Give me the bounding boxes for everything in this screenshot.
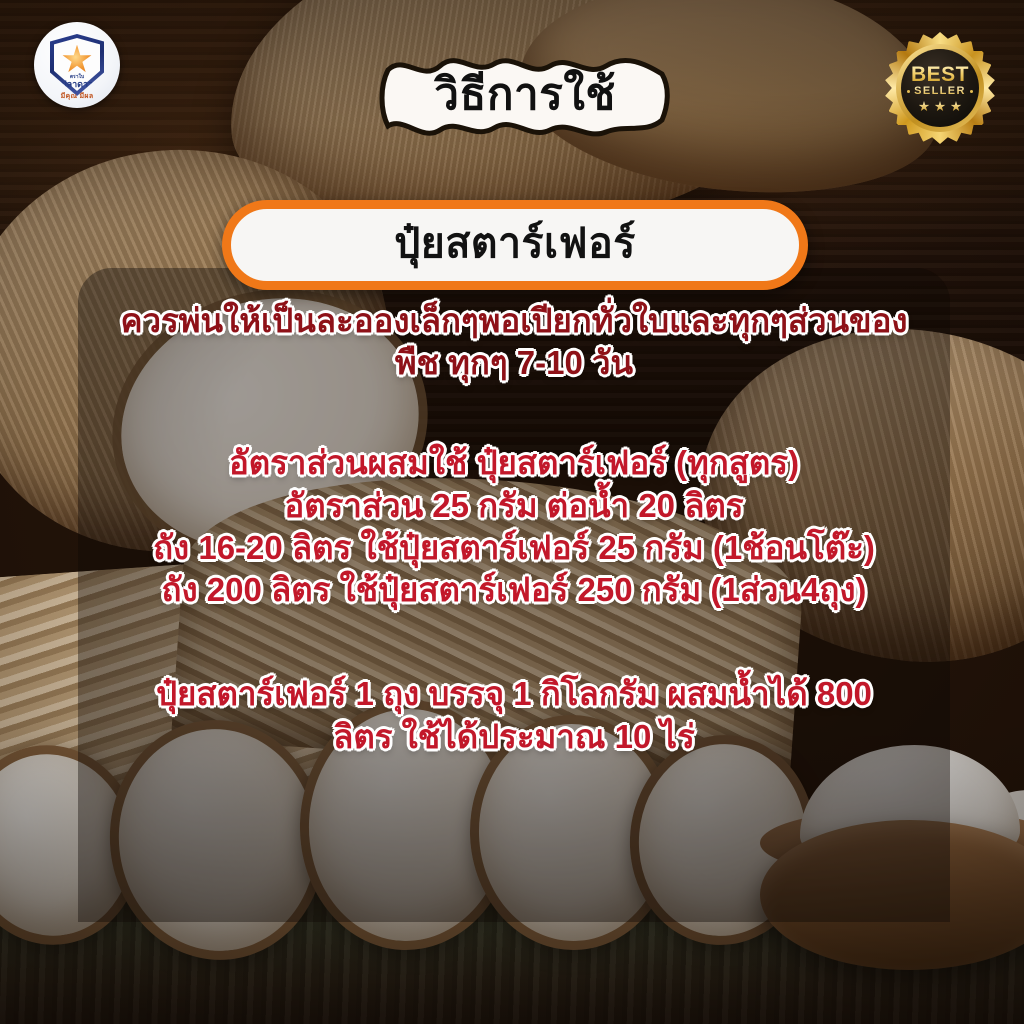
badge-dot-left [907,90,910,93]
badge-seller-label: SELLER [907,86,973,97]
best-seller-badge: BEST SELLER [884,32,996,144]
ratio-line: ถัง 200 ลิตร ใช้ปุ๋ยสตาร์เฟอร์ 250 กรัม … [78,569,950,611]
coverage-paragraph: ปุ๋ยสตาร์เฟอร์ 1 ถุง บรรจุ 1 กิโลกรัม ผส… [78,673,950,757]
page-title: วิธีการใช้ [378,48,672,144]
star-icon [62,45,92,75]
badge-seller-text: SELLER [914,86,966,97]
ratio-line: อัตราส่วนผสมใช้ ปุ๋ยสตาร์เฟอร์ (ทุกสูตร) [78,442,950,484]
badge-face: BEST SELLER [901,49,979,127]
brand-logo: ตราใบ ปลาดาว มีคุณ มีผล [34,22,120,108]
star-icon [951,101,962,112]
product-name: ปุ๋ยสตาร์เฟอร์ [394,211,635,276]
star-icon [935,101,946,112]
badge-best-label: BEST [911,64,969,85]
product-name-banner: ปุ๋ยสตาร์เฟอร์ [222,200,808,290]
badge-dot-right [970,90,973,93]
logo-line2: ปลาดาว [61,80,93,89]
ratio-paragraph: อัตราส่วนผสมใช้ ปุ๋ยสตาร์เฟอร์ (ทุกสูตร)… [78,442,950,611]
ratio-line: อัตราส่วน 25 กรัม ต่อน้ำ 20 ลิตร [78,485,950,527]
instructions-body: ควรพ่นให้เป็นละอองเล็กๆพอเปียกทั่วใบและท… [78,300,950,758]
badge-stars [919,101,962,112]
coverage-line: ปุ๋ยสตาร์เฟอร์ 1 ถุง บรรจุ 1 กิโลกรัม ผส… [78,673,950,715]
intro-line: พืช ทุกๆ 7-10 วัน [78,342,950,384]
coverage-line: ลิตร ใช้ได้ประมาณ 10 ไร่ [78,716,950,758]
logo-subtitle: มีคุณ มีผล [34,91,120,102]
intro-paragraph: ควรพ่นให้เป็นละอองเล็กๆพอเปียกทั่วใบและท… [78,300,950,384]
ratio-line: ถัง 16-20 ลิตร ใช้ปุ๋ยสตาร์เฟอร์ 25 กรัม… [78,527,950,569]
star-icon [919,101,930,112]
title-banner: วิธีการใช้ [378,48,672,144]
spacer [78,384,950,442]
shield-icon: ตราใบ ปลาดาว [50,34,104,96]
intro-line: ควรพ่นให้เป็นละอองเล็กๆพอเปียกทั่วใบและท… [78,300,950,342]
spacer [78,611,950,673]
infographic-poster: ตราใบ ปลาดาว มีคุณ มีผล BEST SELLER [0,0,1024,1024]
